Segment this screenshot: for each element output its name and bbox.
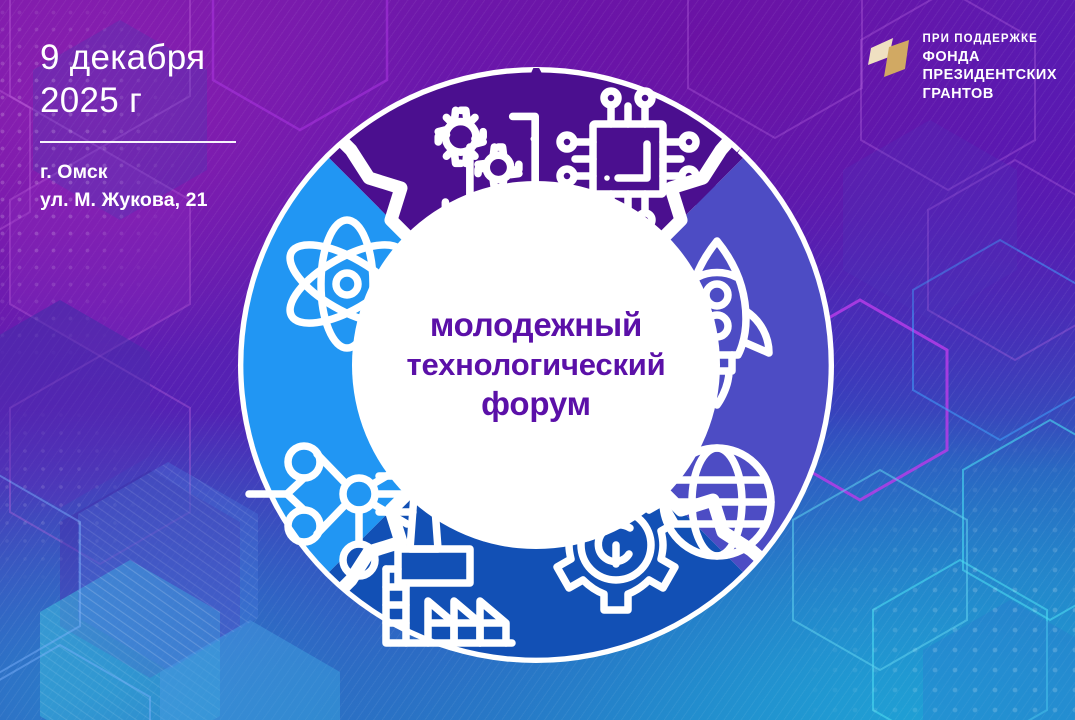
info-divider xyxy=(40,141,236,143)
fund-name-line-2: ПРЕЗИДЕНТСКИХ xyxy=(922,66,1057,85)
poster-canvas: 9 декабря 2025 г г. Омск ул. М. Жукова, … xyxy=(0,0,1075,720)
forum-theme-wheel xyxy=(229,58,843,672)
event-info-block: 9 декабря 2025 г г. Омск ул. М. Жукова, … xyxy=(40,36,310,214)
event-address: ул. М. Жукова, 21 xyxy=(40,186,310,214)
fund-support-label: ПРИ ПОДДЕРЖКЕ xyxy=(922,32,1057,48)
wheel-graphic xyxy=(229,58,843,672)
presidential-grants-fund-logo: ПРИ ПОДДЕРЖКЕ ФОНДА ПРЕЗИДЕНТСКИХ ГРАНТО… xyxy=(867,32,1057,104)
fund-name-line-3: ГРАНТОВ xyxy=(922,85,1057,104)
event-date-line-2: 2025 г xyxy=(40,79,310,122)
background-dot-grid-bottom-left xyxy=(0,370,200,580)
event-date-line-1: 9 декабря xyxy=(40,36,310,79)
fund-flag-icon xyxy=(867,35,911,81)
fund-name-line-1: ФОНДА xyxy=(922,48,1057,67)
event-city: г. Омск xyxy=(40,158,310,186)
